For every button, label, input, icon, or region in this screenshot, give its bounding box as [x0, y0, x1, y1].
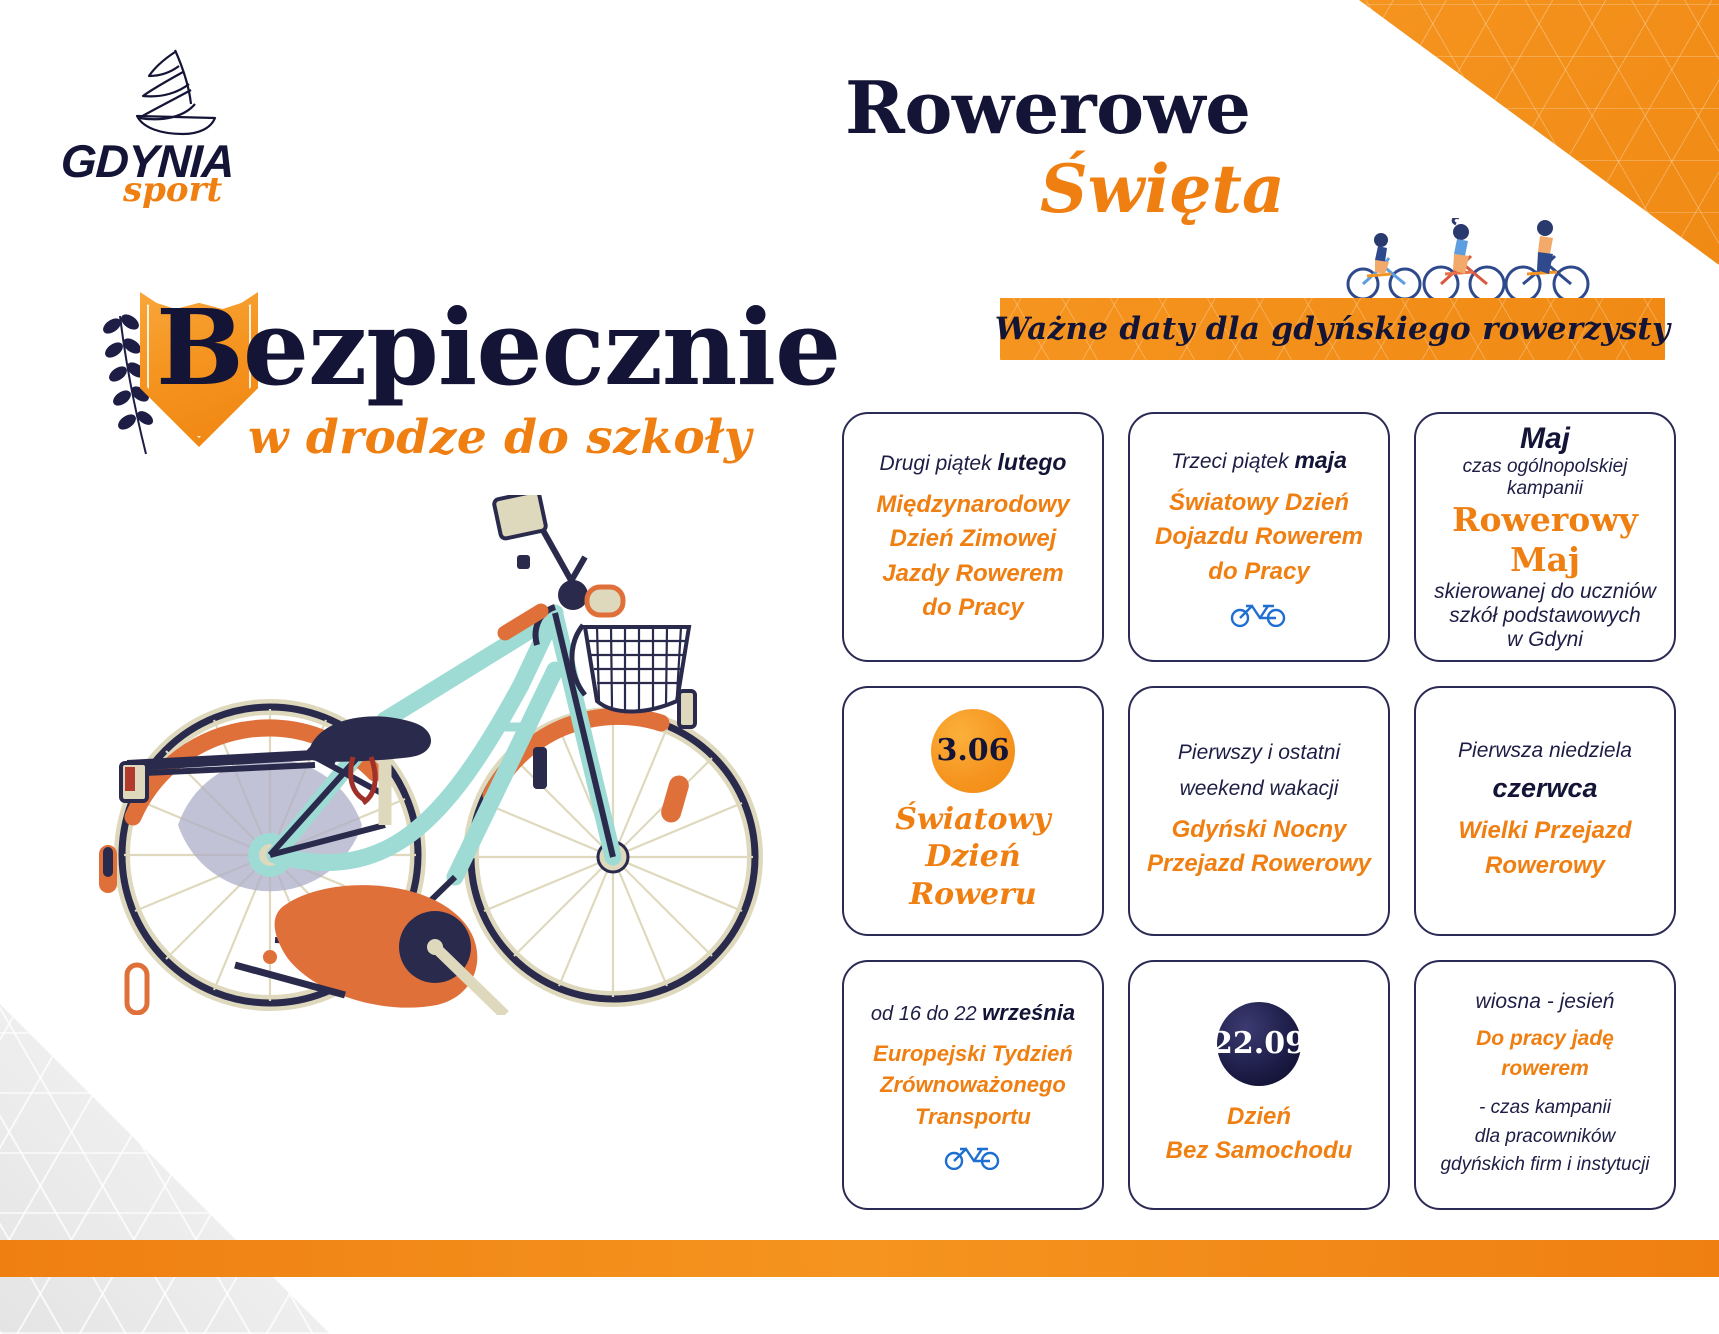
card-dzien-roweru[interactable]: 3.06 Światowy Dzień Roweru — [842, 686, 1104, 936]
card-wielki-przejazd-navy-1: Pierwsza niedziela — [1458, 739, 1632, 763]
page-title: Rowerowe — [845, 70, 1250, 146]
cyclists-group-illustration — [1345, 218, 1605, 303]
card-etzt-header-month: września — [982, 1000, 1075, 1025]
card-luty-line-2: Dzień Zimowej — [876, 522, 1069, 556]
section-banner: Ważne daty dla gdyńskiego rowerzysty — [1000, 298, 1665, 360]
card-nocny-przejazd-navy-2: weekend wakacji — [1180, 777, 1339, 801]
card-maj-dojazd[interactable]: Trzeci piątek maja Światowy Dzień Dojazd… — [1128, 412, 1390, 662]
card-nocny-przejazd[interactable]: Pierwszy i ostatni weekend wakacji Gdyńs… — [1128, 686, 1390, 936]
card-etzt-line-2: Zrównoważonego — [873, 1069, 1073, 1100]
headline-block: Bezpiecznie w drodze do szkoły — [100, 262, 780, 472]
headline-initial: B — [156, 286, 243, 409]
gdynia-sport-logo: GDYNIA sport — [55, 48, 275, 188]
bottom-left-pattern-corner — [0, 1004, 330, 1334]
bicycle-icon — [1230, 597, 1288, 627]
card-luty-header-month: lutego — [997, 449, 1066, 475]
bottom-orange-stripe — [0, 1240, 1719, 1277]
card-etzt-line-3: Transportu — [873, 1101, 1073, 1132]
poster-canvas: GDYNIA sport — [0, 0, 1719, 1334]
card-nocny-przejazd-navy-1: Pierwszy i ostatni — [1178, 741, 1340, 765]
card-dzien-roweru-line-1: Światowy Dzień — [858, 801, 1088, 876]
card-bez-samochodu-line-1: Dzień — [1227, 1100, 1291, 1134]
card-bez-samochodu-line-2: Bez Samochodu — [1166, 1134, 1353, 1168]
card-nocny-przejazd-orange-1: Gdyński Nocny — [1172, 813, 1347, 847]
logo-sub-wordmark: sport — [123, 170, 222, 210]
card-etzt[interactable]: od 16 do 22 września Europejski Tydzień … — [842, 960, 1104, 1210]
card-maj-dojazd-line-2: Dojazdu Rowerem — [1155, 520, 1363, 554]
card-maj-dojazd-line-1: Światowy Dzień — [1155, 486, 1363, 520]
card-dzien-roweru-date-badge: 3.06 — [931, 709, 1015, 793]
card-wielki-przejazd[interactable]: Pierwsza niedziela czerwca Wielki Przeja… — [1414, 686, 1676, 936]
section-banner-label: Ważne daty dla gdyńskiego rowerzysty — [995, 311, 1671, 347]
card-do-pracy-season: wiosna - jesień — [1476, 990, 1615, 1014]
card-do-pracy-note-3: gdyńskich firm i instytucji — [1440, 1151, 1649, 1180]
card-luty-line-4: do Pracy — [876, 591, 1069, 625]
card-etzt-header-prefix: od 16 do 22 — [871, 1003, 982, 1025]
card-luty-body: Międzynarodowy Dzień Zimowej Jazdy Rower… — [876, 488, 1069, 624]
headline-subtitle: w drodze do szkoły — [248, 410, 752, 465]
card-bez-samochodu-date-badge: 22.09 — [1217, 1002, 1301, 1086]
card-rowerowy-maj-sub2-line-1: skierowanej do uczniów — [1434, 580, 1656, 604]
card-nocny-przejazd-orange-2: Przejazd Rowerowy — [1147, 847, 1371, 881]
card-rowerowy-maj-sub1: czas ogólnopolskiej kampanii — [1430, 456, 1660, 500]
card-rowerowy-maj-header: Maj — [1520, 422, 1570, 456]
page-title-script: Święta — [1040, 150, 1285, 228]
card-rowerowy-maj-sub2-line-3: w Gdyni — [1507, 628, 1583, 652]
bicycle-illustration — [85, 495, 765, 1015]
card-maj-dojazd-header-month: maja — [1294, 447, 1346, 473]
card-wielki-przejazd-navy-bold: czerwca — [1492, 773, 1597, 804]
dates-grid: Drugi piątek lutego Międzynarodowy Dzień… — [842, 412, 1682, 1210]
card-luty-header: Drugi piątek lutego — [880, 449, 1067, 476]
headline-text: Bezpiecznie — [156, 296, 840, 400]
card-bez-samochodu[interactable]: 22.09 Dzień Bez Samochodu — [1128, 960, 1390, 1210]
card-maj-dojazd-header-prefix: Trzeci piątek — [1171, 450, 1294, 473]
card-maj-dojazd-line-3: do Pracy — [1155, 555, 1363, 589]
card-rowerowy-maj[interactable]: Maj czas ogólnopolskiej kampanii Rowerow… — [1414, 412, 1676, 662]
card-luty[interactable]: Drugi piątek lutego Międzynarodowy Dzień… — [842, 412, 1104, 662]
card-do-pracy-note-1: - czas kampanii — [1479, 1094, 1611, 1123]
card-rowerowy-maj-title: Rowerowy Maj — [1430, 500, 1660, 579]
card-luty-line-1: Międzynarodowy — [876, 488, 1069, 522]
bicycle-icon — [944, 1140, 1002, 1170]
card-maj-dojazd-header: Trzeci piątek maja — [1171, 447, 1347, 474]
card-wielki-przejazd-orange-1: Wielki Przejazd — [1458, 814, 1631, 848]
sailing-ship-icon — [105, 46, 255, 138]
card-etzt-body: Europejski Tydzień Zrównoważonego Transp… — [873, 1038, 1073, 1132]
card-rowerowy-maj-sub2-line-2: szkół podstawowych — [1449, 604, 1640, 628]
card-do-pracy-title: Do pracy jadę rowerem — [1430, 1024, 1660, 1084]
card-wielki-przejazd-orange-2: Rowerowy — [1485, 849, 1605, 883]
card-maj-dojazd-body: Światowy Dzień Dojazdu Rowerem do Pracy — [1155, 486, 1363, 588]
card-do-pracy-rowerem[interactable]: wiosna - jesień Do pracy jadę rowerem - … — [1414, 960, 1676, 1210]
headline-rest: ezpiecznie — [243, 286, 840, 409]
card-etzt-line-1: Europejski Tydzień — [873, 1038, 1073, 1069]
card-do-pracy-note-2: dla pracowników — [1475, 1123, 1615, 1152]
card-luty-header-prefix: Drugi piątek — [880, 452, 998, 475]
card-dzien-roweru-line-2: Roweru — [909, 876, 1036, 914]
card-etzt-header: od 16 do 22 września — [871, 1000, 1075, 1026]
card-luty-line-3: Jazdy Rowerem — [876, 557, 1069, 591]
